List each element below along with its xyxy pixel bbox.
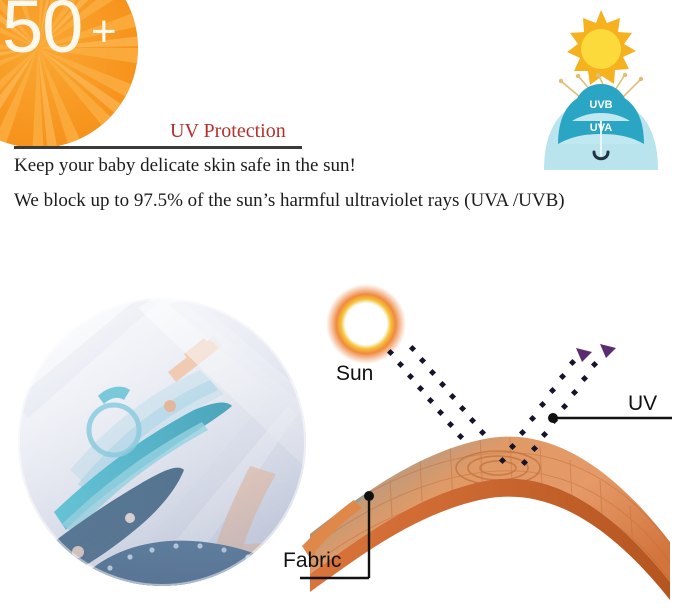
uv-umbrella-icon: UVB UVA bbox=[528, 4, 674, 170]
fabric-surface bbox=[310, 437, 670, 582]
umbrella-label-uva: UVA bbox=[590, 122, 612, 134]
tagline-line-2: We block up to 97.5% of the sun’s harmfu… bbox=[14, 190, 565, 212]
uv-reflection-arrowheads bbox=[576, 344, 616, 362]
tagline-line-1: Keep your baby delicate skin safe in the… bbox=[14, 155, 356, 177]
upf-badge-text: UPF 50 + bbox=[0, 0, 138, 148]
upf-plus-sign: + bbox=[91, 10, 117, 54]
poster-canvas: UPF 50 + UV Protection Keep your baby de… bbox=[0, 0, 679, 614]
fabric-photo-art bbox=[18, 298, 306, 586]
page-title: UV Protection bbox=[170, 120, 286, 143]
sun-label: Sun bbox=[336, 362, 373, 386]
umbrella-label-uvb: UVB bbox=[589, 99, 612, 111]
uv-reflection-diagram bbox=[300, 282, 679, 614]
uv-label: UV bbox=[628, 392, 657, 416]
fabric-closeup-photo bbox=[18, 298, 306, 586]
title-divider bbox=[14, 146, 302, 149]
sun-icon bbox=[326, 284, 406, 364]
upf-rating: 50 bbox=[2, 0, 82, 64]
fabric-label: Fabric bbox=[283, 549, 341, 573]
